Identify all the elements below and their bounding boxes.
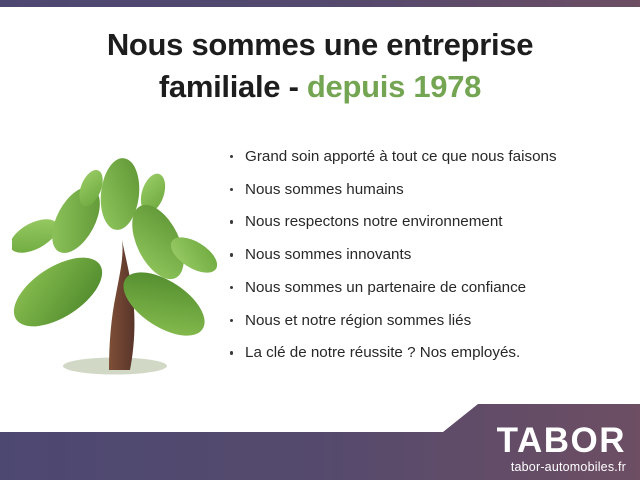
leaf bbox=[12, 244, 114, 340]
top-accent-strip bbox=[0, 0, 640, 7]
tree-illustration bbox=[12, 158, 217, 390]
list-item: La clé de notre réussite ? Nos employés. bbox=[228, 344, 628, 362]
brand-footer-band: TABOR tabor-automobiles.fr bbox=[0, 400, 640, 480]
headline-line-2: familiale - depuis 1978 bbox=[0, 66, 640, 108]
slide-canvas: Nous sommes une entreprise familiale - d… bbox=[0, 0, 640, 480]
list-item: Nous sommes innovants bbox=[228, 246, 628, 264]
headline-line-1: Nous sommes une entreprise bbox=[0, 24, 640, 66]
list-item: Grand soin apporté à tout ce que nous fa… bbox=[228, 148, 628, 166]
page-title: Nous sommes une entreprise familiale - d… bbox=[0, 24, 640, 108]
list-item: Nous sommes humains bbox=[228, 181, 628, 199]
band-shape bbox=[0, 404, 640, 480]
headline-line-2-main: familiale - bbox=[159, 69, 299, 104]
headline-accent-year: depuis 1978 bbox=[307, 69, 481, 104]
tree-trunk bbox=[109, 240, 134, 370]
value-bullet-list: Grand soin apporté à tout ce que nous fa… bbox=[228, 148, 628, 377]
list-item: Nous sommes un partenaire de confiance bbox=[228, 279, 628, 297]
list-item: Nous respectons notre environnement bbox=[228, 213, 628, 231]
list-item: Nous et notre région sommes liés bbox=[228, 312, 628, 330]
